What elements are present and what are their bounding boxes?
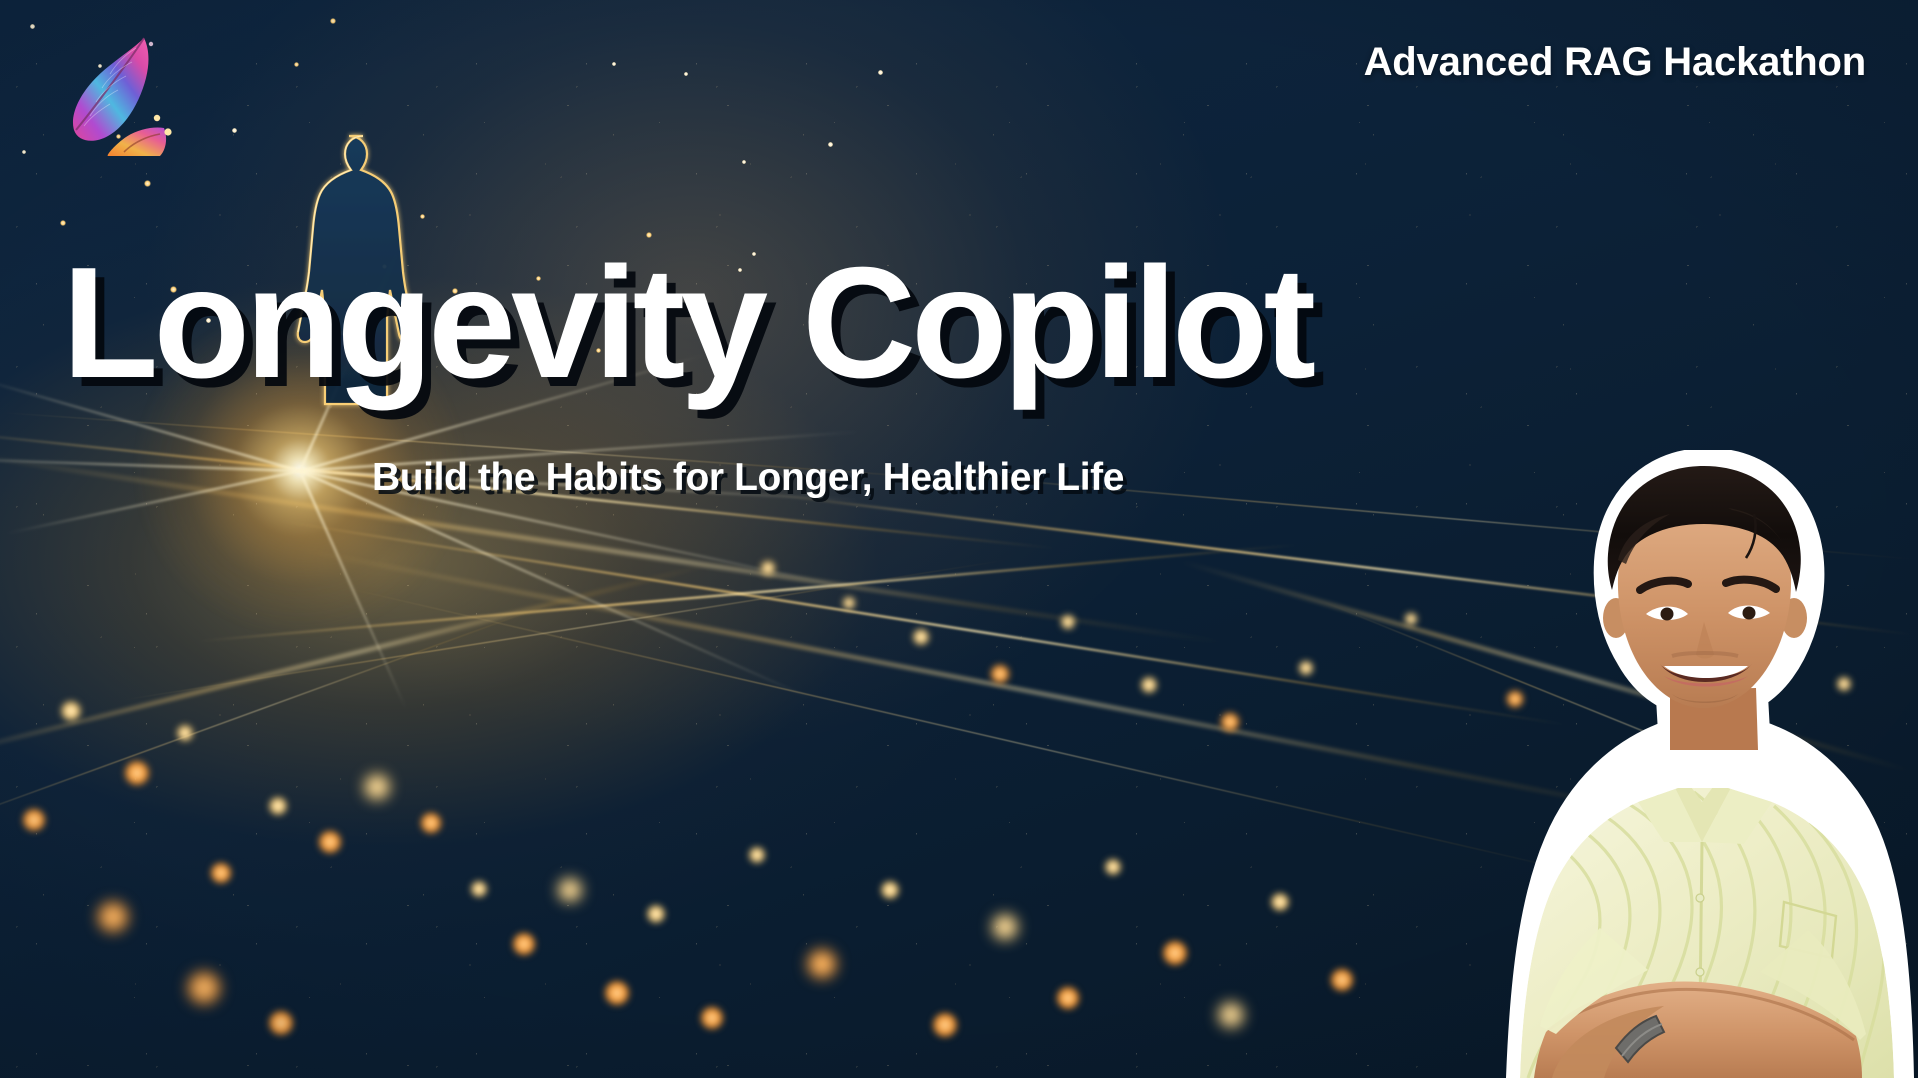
presenter-portrait bbox=[1488, 450, 1918, 1078]
hackathon-banner: Advanced RAG Hackathon Longevity Copilot… bbox=[0, 0, 1918, 1078]
page-title: Longevity Copilot bbox=[62, 244, 1311, 402]
feather-logo-icon[interactable] bbox=[56, 24, 172, 156]
page-subtitle: Build the Habits for Longer, Healthier L… bbox=[372, 456, 1124, 500]
event-title: Advanced RAG Hackathon bbox=[1364, 40, 1866, 85]
